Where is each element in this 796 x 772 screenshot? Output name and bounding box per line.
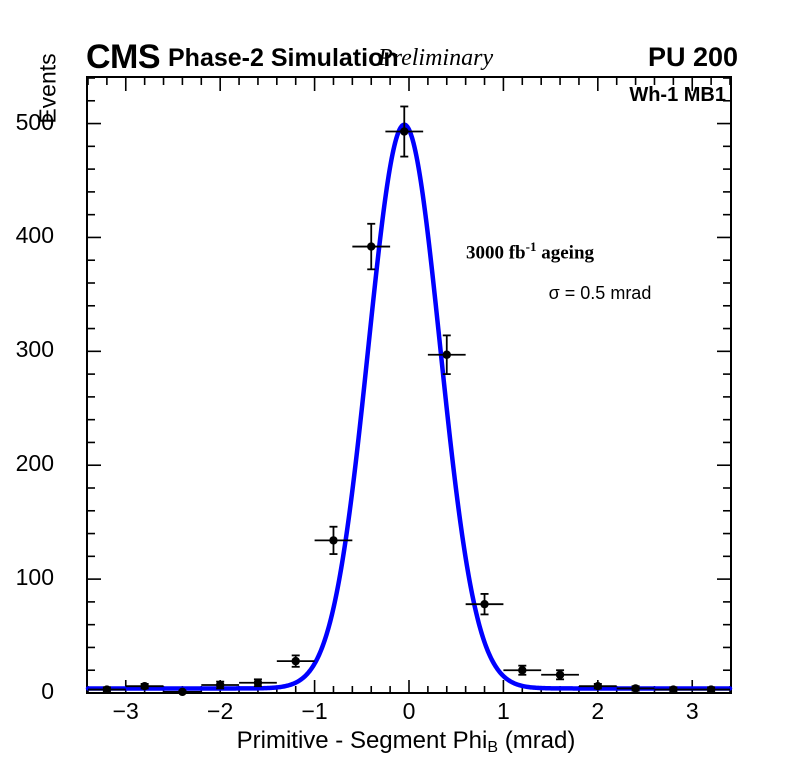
x-tick-label: 0 — [379, 698, 439, 725]
x-axis-title: Primitive - Segment PhiB (mrad) — [237, 727, 576, 757]
luminosity-ageing-label: 3000 fb-1 ageing — [466, 239, 594, 264]
y-tick-label: 100 — [16, 564, 54, 591]
phase2-simulation-label: Phase-2 Simulation — [168, 44, 399, 73]
y-tick-label: 400 — [16, 222, 54, 249]
x-axis-title-subscript: B — [487, 739, 498, 756]
pileup-label: PU 200 — [648, 42, 738, 73]
plot-frame — [86, 76, 732, 694]
y-tick-label: 200 — [16, 450, 54, 477]
x-tick-label: 1 — [473, 698, 533, 725]
y-tick-label: 0 — [41, 678, 54, 705]
x-axis-title-main: Primitive - Segment Phi — [237, 727, 488, 754]
x-axis-title-unit: (mrad) — [498, 727, 575, 754]
x-tick-label: 3 — [662, 698, 722, 725]
chart-root: CMS Phase-2 Simulation Preliminary PU 20… — [0, 0, 796, 772]
y-axis-title: Events — [35, 19, 62, 159]
lumi-exponent: -1 — [526, 239, 537, 254]
x-tick-label: −3 — [96, 698, 156, 725]
x-tick-label: −2 — [190, 698, 250, 725]
x-tick-label: −1 — [285, 698, 345, 725]
y-tick-label: 500 — [16, 109, 54, 136]
preliminary-label: Preliminary — [378, 45, 493, 72]
cms-logo-label: CMS — [86, 38, 160, 77]
lumi-value: 3000 fb — [466, 242, 526, 263]
lumi-suffix: ageing — [536, 242, 594, 263]
sigma-resolution-label: σ = 0.5 mrad — [549, 283, 652, 304]
x-tick-label: 2 — [568, 698, 628, 725]
chamber-label: Wh-1 MB1 — [629, 84, 726, 107]
y-tick-label: 300 — [16, 336, 54, 363]
